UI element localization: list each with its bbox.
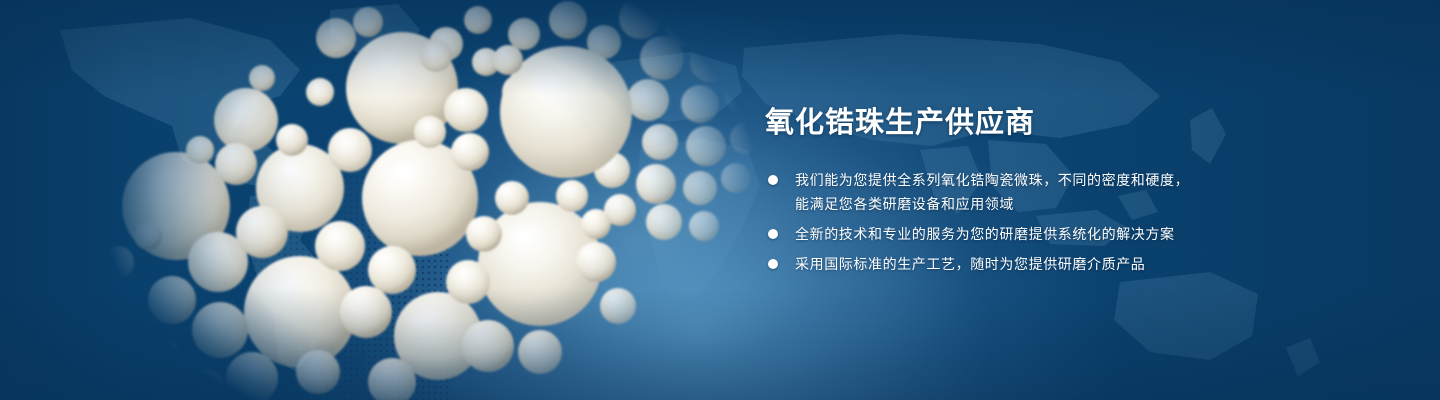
page-title: 氧化锆珠生产供应商 — [765, 104, 1365, 142]
bullet-dot-icon — [768, 259, 778, 269]
list-item: 采用国际标准的生产工艺，随时为您提供研磨介质产品 — [765, 252, 1365, 276]
feature-list: 我们能为您提供全系列氧化锆陶瓷微珠，不同的密度和硬度， 能满足您各类研磨设备和应… — [765, 168, 1365, 276]
banner-copy: 氧化锆珠生产供应商 我们能为您提供全系列氧化锆陶瓷微珠，不同的密度和硬度， 能满… — [765, 104, 1365, 276]
list-item: 我们能为您提供全系列氧化锆陶瓷微珠，不同的密度和硬度， 能满足您各类研磨设备和应… — [765, 168, 1365, 216]
list-item-line-1: 我们能为您提供全系列氧化锆陶瓷微珠，不同的密度和硬度， — [795, 168, 1365, 192]
list-item-line-1: 采用国际标准的生产工艺，随时为您提供研磨介质产品 — [795, 252, 1365, 276]
list-item-line-1: 全新的技术和专业的服务为您的研磨提供系统化的解决方案 — [795, 222, 1365, 246]
list-item-line-2: 能满足您各类研磨设备和应用领域 — [795, 192, 1365, 216]
promo-banner: 氧化锆珠生产供应商 我们能为您提供全系列氧化锆陶瓷微珠，不同的密度和硬度， 能满… — [0, 0, 1440, 400]
bullet-dot-icon — [768, 229, 778, 239]
bullet-dot-icon — [768, 175, 778, 185]
list-item: 全新的技术和专业的服务为您的研磨提供系统化的解决方案 — [765, 222, 1365, 246]
